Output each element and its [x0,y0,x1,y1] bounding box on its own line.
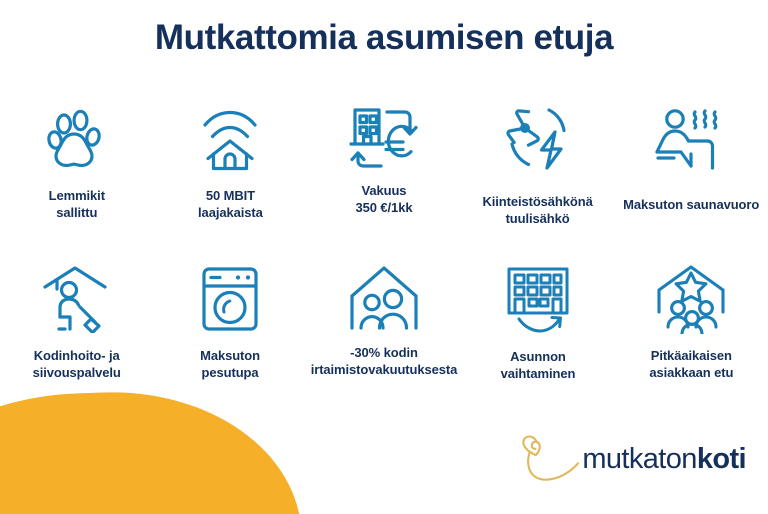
benefit-item-cleaning-service: Kodinhoito- ja siivouspalvelu [0,260,153,382]
sauna-person-icon [655,100,727,178]
benefit-item-home-insurance-discount: -30% kodin irtaimistovakuutuksesta [307,260,462,382]
wifi-house-icon [197,100,263,178]
benefit-label: Pitkäaikaisen asiakkaan etu [649,347,733,381]
benefits-row-2: Kodinhoito- ja siivouspalvelu Maksuton p… [0,260,768,382]
benefits-row-1: Lemmikit sallittu 50 MBIT laajakaista [0,100,768,227]
benefit-item-apartment-swap: Asunnon vaihtaminen [461,260,614,382]
brand-logo-text-light: mutkaton [582,443,697,475]
brand-logo-text-bold: koti [697,443,746,475]
decorative-amber-blob [0,386,304,514]
benefit-item-deposit: Vakuus 350 €/1kk [307,100,461,227]
page-title: Mutkattomia asumisen etuja [0,18,768,58]
benefit-label: Lemmikit sallittu [49,187,105,221]
benefit-label: Maksuton pesutupa [200,347,260,381]
benefit-item-wind-power: Kiinteistösähkönä tuulisähkö [461,100,615,227]
benefit-item-free-sauna: Maksuton saunavuoro [614,100,768,227]
heart-swoosh-icon [514,431,580,488]
benefit-item-loyalty-benefit: Pitkäaikaisen asiakkaan etu [615,260,768,382]
apartment-swap-icon [503,260,573,338]
benefit-item-pets-allowed: Lemmikit sallittu [0,100,154,227]
house-star-people-icon [654,260,728,338]
benefit-label: Asunnon vaihtaminen [501,348,576,382]
paw-print-icon [44,100,110,178]
benefit-label: Maksuton saunavuoro [623,196,759,213]
benefit-label: Kodinhoito- ja siivouspalvelu [33,347,121,381]
benefit-label: Vakuus 350 €/1kk [356,182,413,216]
washing-machine-icon [197,260,263,338]
benefit-item-broadband: 50 MBIT laajakaista [154,100,308,227]
house-family-icon [347,260,421,338]
benefit-item-laundry-room: Maksuton pesutupa [153,260,306,382]
benefit-label: -30% kodin irtaimistovakuutuksesta [311,344,458,378]
benefit-label: Kiinteistösähkönä tuulisähkö [482,193,592,227]
brand-logo-text: mutkatonkoti [582,445,746,474]
benefit-label: 50 MBIT laajakaista [198,187,263,221]
wind-turbine-bolt-icon [503,100,573,178]
brand-logo[interactable]: mutkatonkoti [514,431,746,488]
building-euro-exchange-icon [345,100,423,178]
poster-canvas: Mutkattomia asumisen etuja Lemmikit sall… [0,0,768,514]
cleaning-person-house-icon [41,260,113,338]
